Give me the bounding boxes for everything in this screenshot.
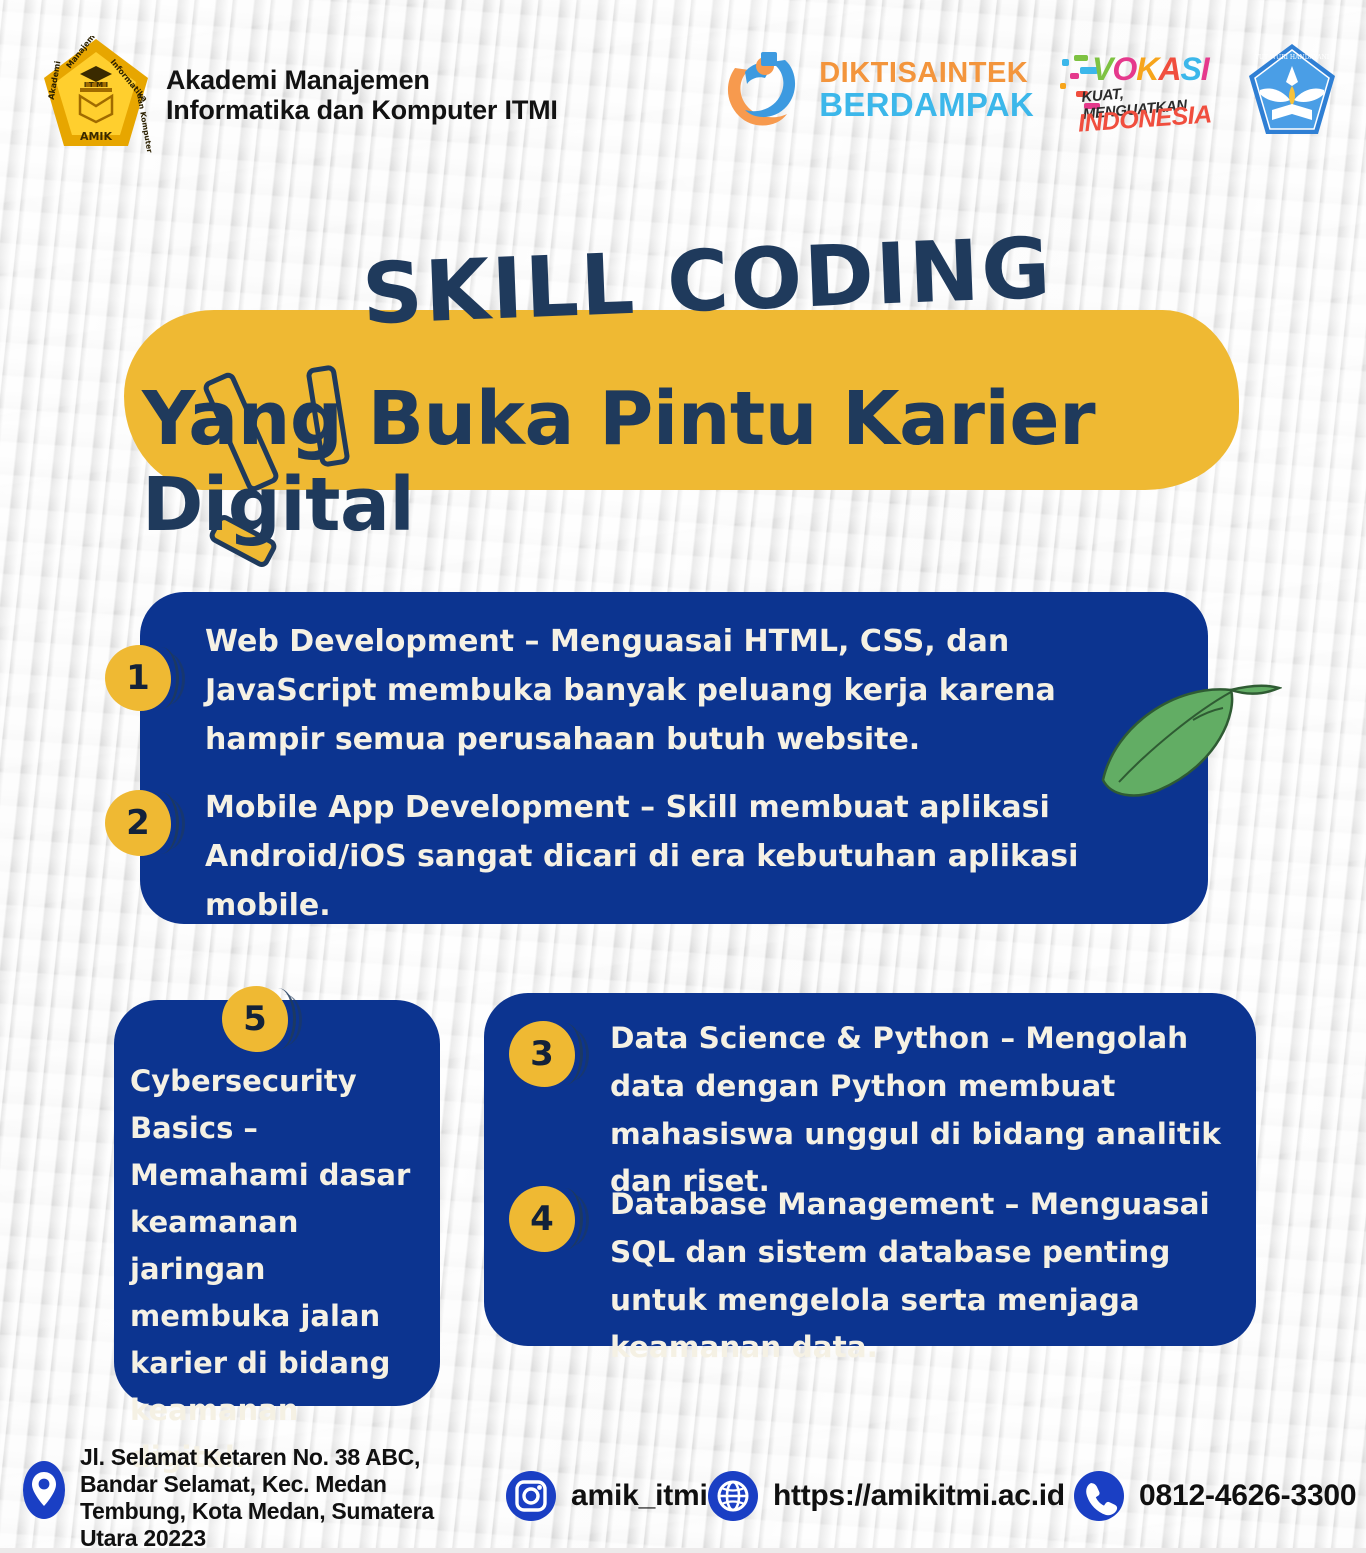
diktisaintek-mark-icon <box>715 46 807 134</box>
diktisaintek-logo: DIKTISAINTEK BERDAMPAK <box>715 46 1034 134</box>
globe-icon[interactable] <box>707 1470 759 1522</box>
footer-instagram-item[interactable]: amik_itmi <box>505 1470 708 1522</box>
phone-icon[interactable] <box>1073 1470 1125 1522</box>
diktisaintek-line2: BERDAMPAK <box>819 88 1034 121</box>
institution-logo-block: I T M I AMIK Manajemen Informatika Akade… <box>40 36 558 154</box>
item-badge-3: 3 <box>509 1021 575 1087</box>
leaf-decoration-icon <box>1097 668 1282 808</box>
diktisaintek-line1: DIKTISAINTEK <box>819 59 1034 88</box>
footer-address-item: Jl. Selamat Ketaren No. 38 ABC, Bandar S… <box>22 1444 434 1553</box>
svg-text:AMIK: AMIK <box>80 130 113 143</box>
svg-text:I T M I: I T M I <box>84 81 108 89</box>
tutwuri-handayani-logo: TUT WURI HANDAYANI <box>1246 42 1338 138</box>
header: I T M I AMIK Manajemen Informatika Akade… <box>0 0 1366 175</box>
item-text-4: Database Management – Menguasai SQL dan … <box>610 1181 1260 1372</box>
item-text-3: Data Science & Python – Mengolah data de… <box>610 1015 1250 1206</box>
item-badge-5: 5 <box>222 986 288 1052</box>
footer-website-item[interactable]: https://amikitmi.ac.id <box>707 1470 1065 1522</box>
footer-address-text: Jl. Selamat Ketaren No. 38 ABC, Bandar S… <box>80 1444 434 1553</box>
item-number: 1 <box>126 658 150 698</box>
item-text-2: Mobile App Development – Skill membuat a… <box>205 783 1105 931</box>
item-badge-1: 1 <box>105 645 171 711</box>
institution-name: Akademi Manajemen Informatika dan Komput… <box>166 65 558 125</box>
title-area: SKILL CODING Yang Buka Pintu Karier Digi… <box>0 180 1366 510</box>
svg-text:dan Komputer: dan Komputer <box>135 93 152 154</box>
title-line-2: Yang Buka Pintu Karier Digital <box>142 376 1242 548</box>
footer: Jl. Selamat Ketaren No. 38 ABC, Bandar S… <box>0 1438 1366 1548</box>
item-text-5: Cybersecurity Basics – Memahami dasar ke… <box>130 1058 420 1481</box>
tutwuri-motto: TUT WURI HANDAYANI <box>1255 54 1330 61</box>
footer-instagram-handle[interactable]: amik_itmi <box>571 1479 708 1513</box>
partner-logos: DIKTISAINTEK BERDAMPAK VOKASI KUAT, MENG… <box>715 42 1338 138</box>
amik-crest-icon: I T M I AMIK Manajemen Informatika Akade… <box>40 36 152 154</box>
item-badge-2: 2 <box>105 790 171 856</box>
footer-website-url[interactable]: https://amikitmi.ac.id <box>773 1479 1065 1513</box>
footer-phone-item[interactable]: 0812-4626-3300 <box>1073 1470 1356 1522</box>
item-number: 4 <box>530 1199 554 1239</box>
instagram-icon[interactable] <box>505 1470 557 1522</box>
item-text-1: Web Development – Menguasai HTML, CSS, d… <box>205 617 1105 765</box>
item-number: 2 <box>126 803 150 843</box>
vokasi-logo: VOKASI KUAT, MENGUATKAN INDONESIA <box>1060 47 1220 133</box>
location-pin-icon <box>22 1460 66 1520</box>
item-number: 5 <box>243 999 267 1039</box>
footer-phone-number[interactable]: 0812-4626-3300 <box>1139 1479 1356 1513</box>
item-number: 3 <box>530 1034 554 1074</box>
item-badge-4: 4 <box>509 1186 575 1252</box>
